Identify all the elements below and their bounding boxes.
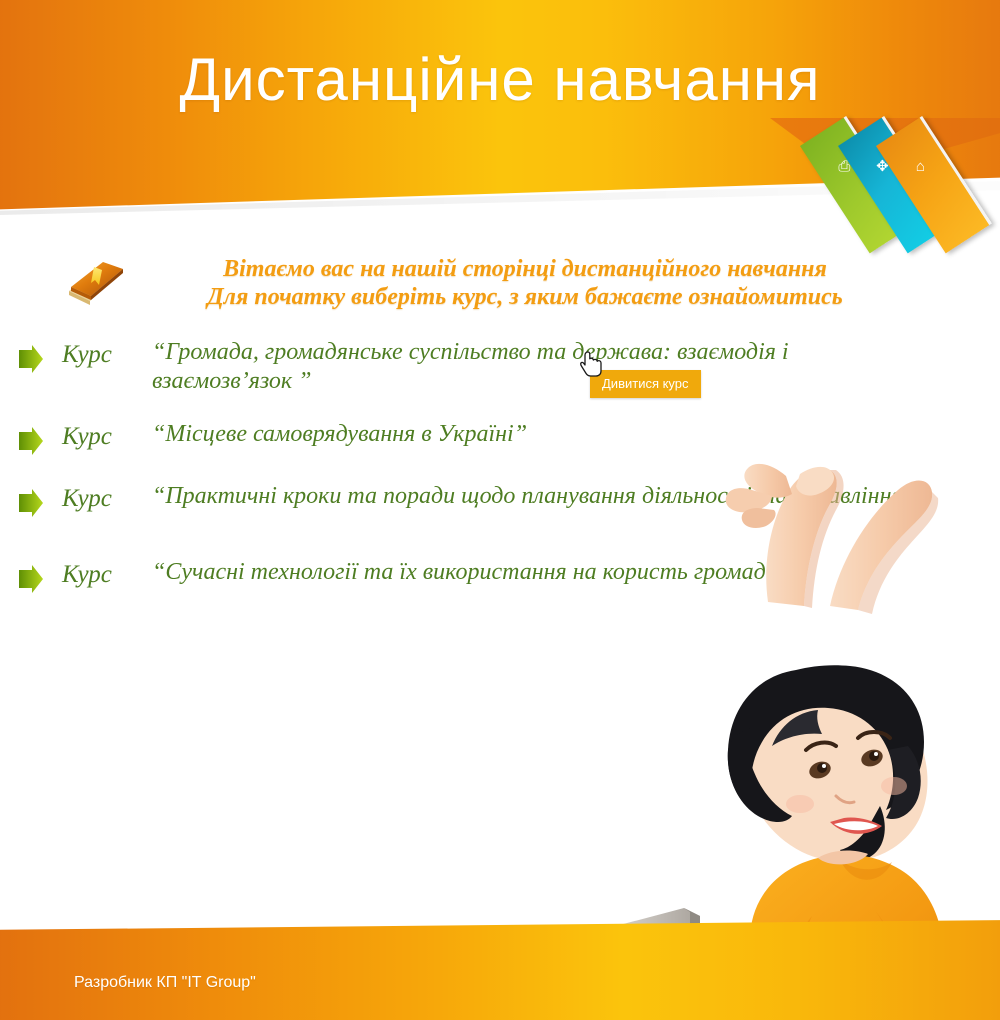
arrow-right-icon (18, 564, 44, 594)
intro-line-1: Вітаємо вас на нашій сторінці дистанційн… (155, 255, 895, 283)
arrow-right-icon (18, 344, 44, 374)
arrow-right-icon (18, 426, 44, 456)
course-label: Курс (62, 330, 152, 370)
course-item[interactable]: Курс “Громада, громадянське суспільство … (0, 330, 940, 406)
arrow-right-icon (18, 488, 44, 518)
bullet-cell (0, 550, 62, 594)
tooltip-view-course[interactable]: Дивитися курс (590, 370, 701, 398)
footer-credit: Разробник КП "IT Group" (74, 974, 256, 992)
book-icon (64, 258, 126, 308)
bullet-cell (0, 412, 62, 456)
bullet-cell (0, 330, 62, 374)
home-icon: ⌂ (894, 159, 946, 174)
footer-gradient-band (0, 920, 1000, 1020)
page-footer: Разробник КП "IT Group" (0, 920, 1000, 1020)
ribbon-tabs: ⎙ ✥ ⌂ (780, 128, 1000, 268)
page-title: Дистанційне навчання (0, 48, 1000, 112)
head (728, 665, 928, 862)
course-label: Курс (62, 550, 152, 590)
intro-line-2: Для початку виберіть курс, з яким бажаєт… (155, 283, 895, 311)
course-title[interactable]: “Громада, громадянське суспільство та де… (152, 330, 940, 396)
bullet-cell (0, 474, 62, 518)
pointing-hand-cursor (580, 350, 604, 380)
course-label: Курс (62, 474, 152, 514)
slide-page: Дистанційне навчання ⎙ ✥ ⌂ (0, 0, 1000, 1020)
arms (726, 464, 938, 614)
course-label: Курс (62, 412, 152, 452)
intro-text: Вітаємо вас на нашій сторінці дистанційн… (155, 255, 895, 311)
